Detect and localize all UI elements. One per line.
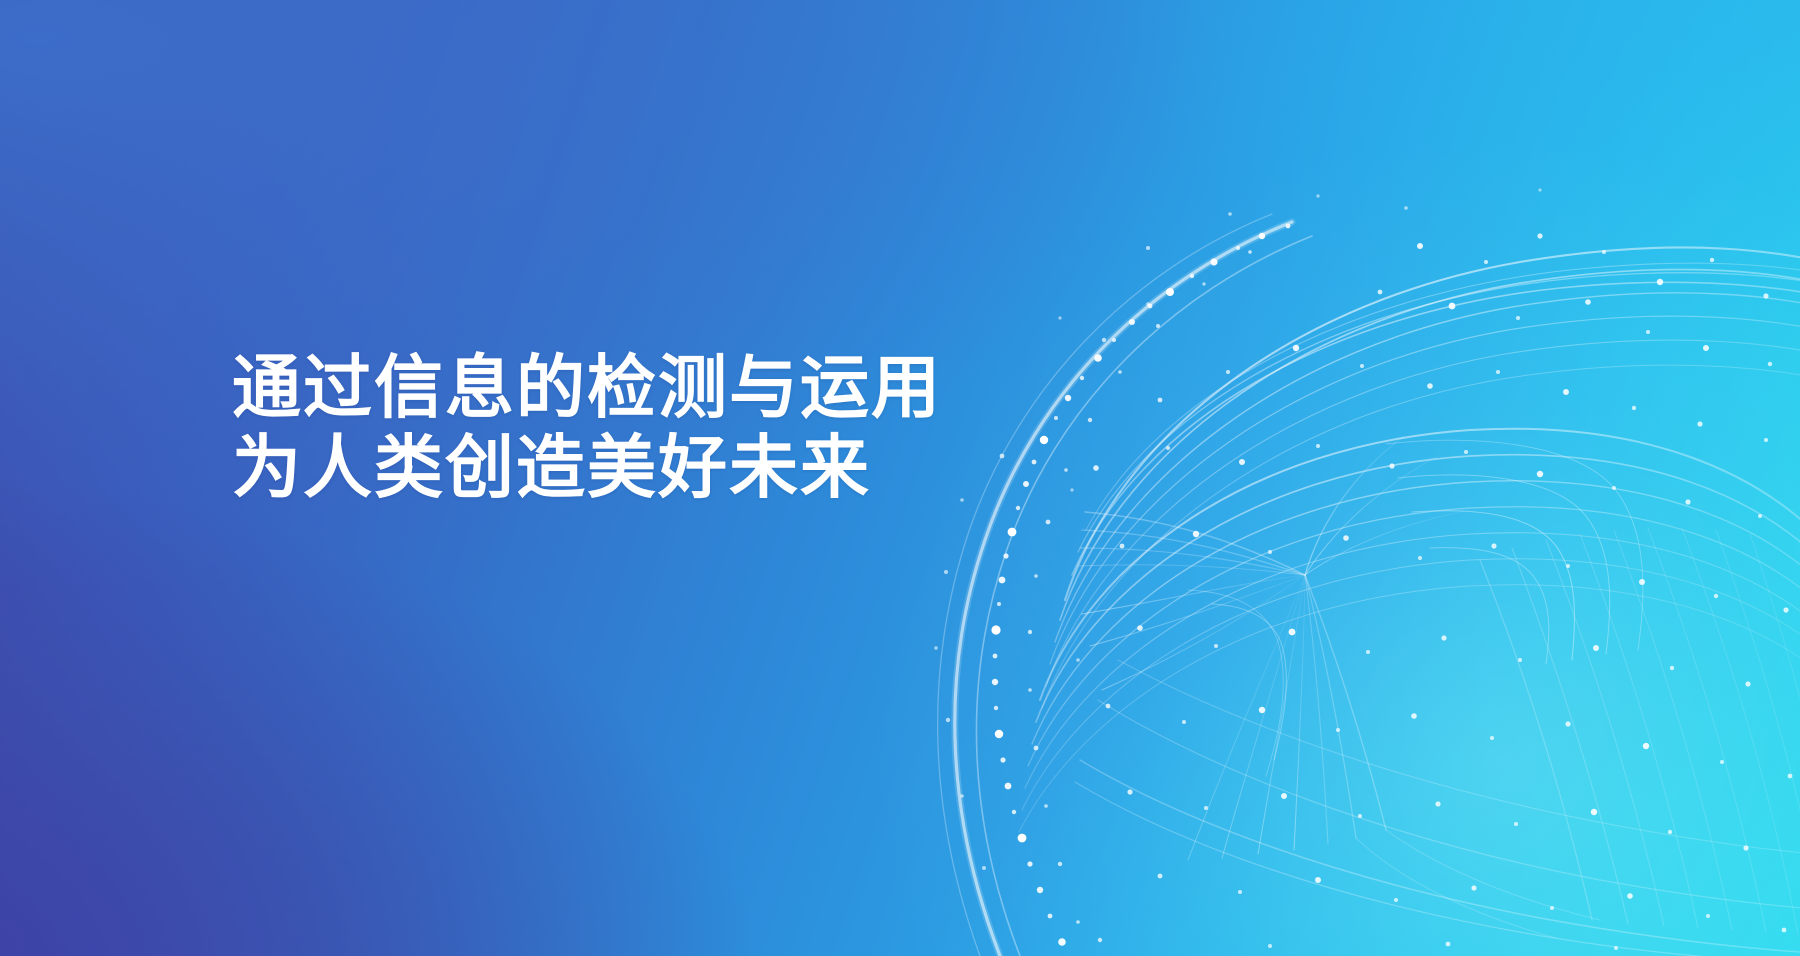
globe-body (860, 120, 1800, 956)
headline-line-1: 通过信息的检测与运用 (232, 348, 942, 428)
headline-line-2: 为人类创造美好未来 (232, 428, 942, 508)
hero-banner: 通过信息的检测与运用 为人类创造美好未来 (0, 0, 1800, 956)
hero-headline: 通过信息的检测与运用 为人类创造美好未来 (232, 348, 942, 508)
